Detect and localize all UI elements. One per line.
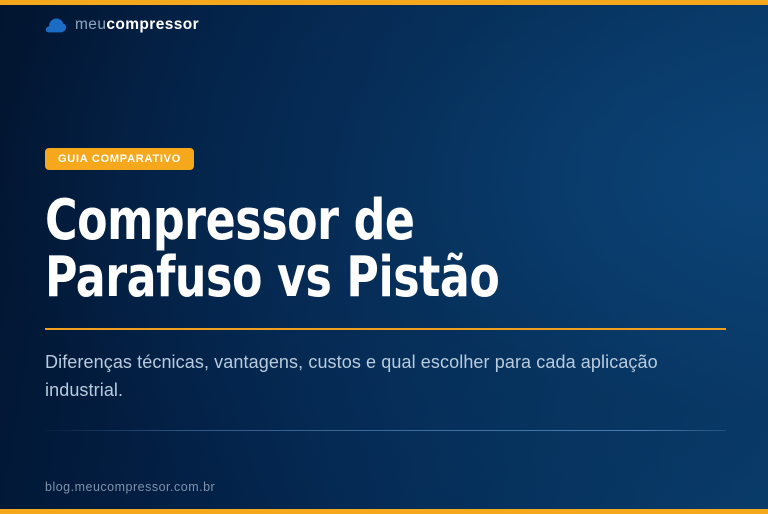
bottom-accent-bar xyxy=(0,509,768,514)
page-title: Compressor de Parafuso vs Pistão xyxy=(45,192,645,306)
category-badge: GUIA COMPARATIVO xyxy=(45,148,194,170)
accent-divider xyxy=(45,328,726,330)
page-subtitle: Diferenças técnicas, vantagens, custos e… xyxy=(45,349,717,404)
thin-divider xyxy=(45,430,726,431)
footer-url: blog.meucompressor.com.br xyxy=(45,480,215,494)
brand-wordmark-bold: compressor xyxy=(106,16,199,33)
hero-content: GUIA COMPARATIVO Compressor de Parafuso … xyxy=(45,148,727,431)
article-cover-card: meucompressor GUIA COMPARATIVO Compresso… xyxy=(0,0,768,514)
top-accent-bar xyxy=(0,0,768,5)
brand-wordmark-light: meu xyxy=(75,16,106,33)
cloud-icon xyxy=(45,17,67,33)
brand-logo[interactable]: meucompressor xyxy=(45,16,199,34)
brand-wordmark: meucompressor xyxy=(75,16,199,34)
